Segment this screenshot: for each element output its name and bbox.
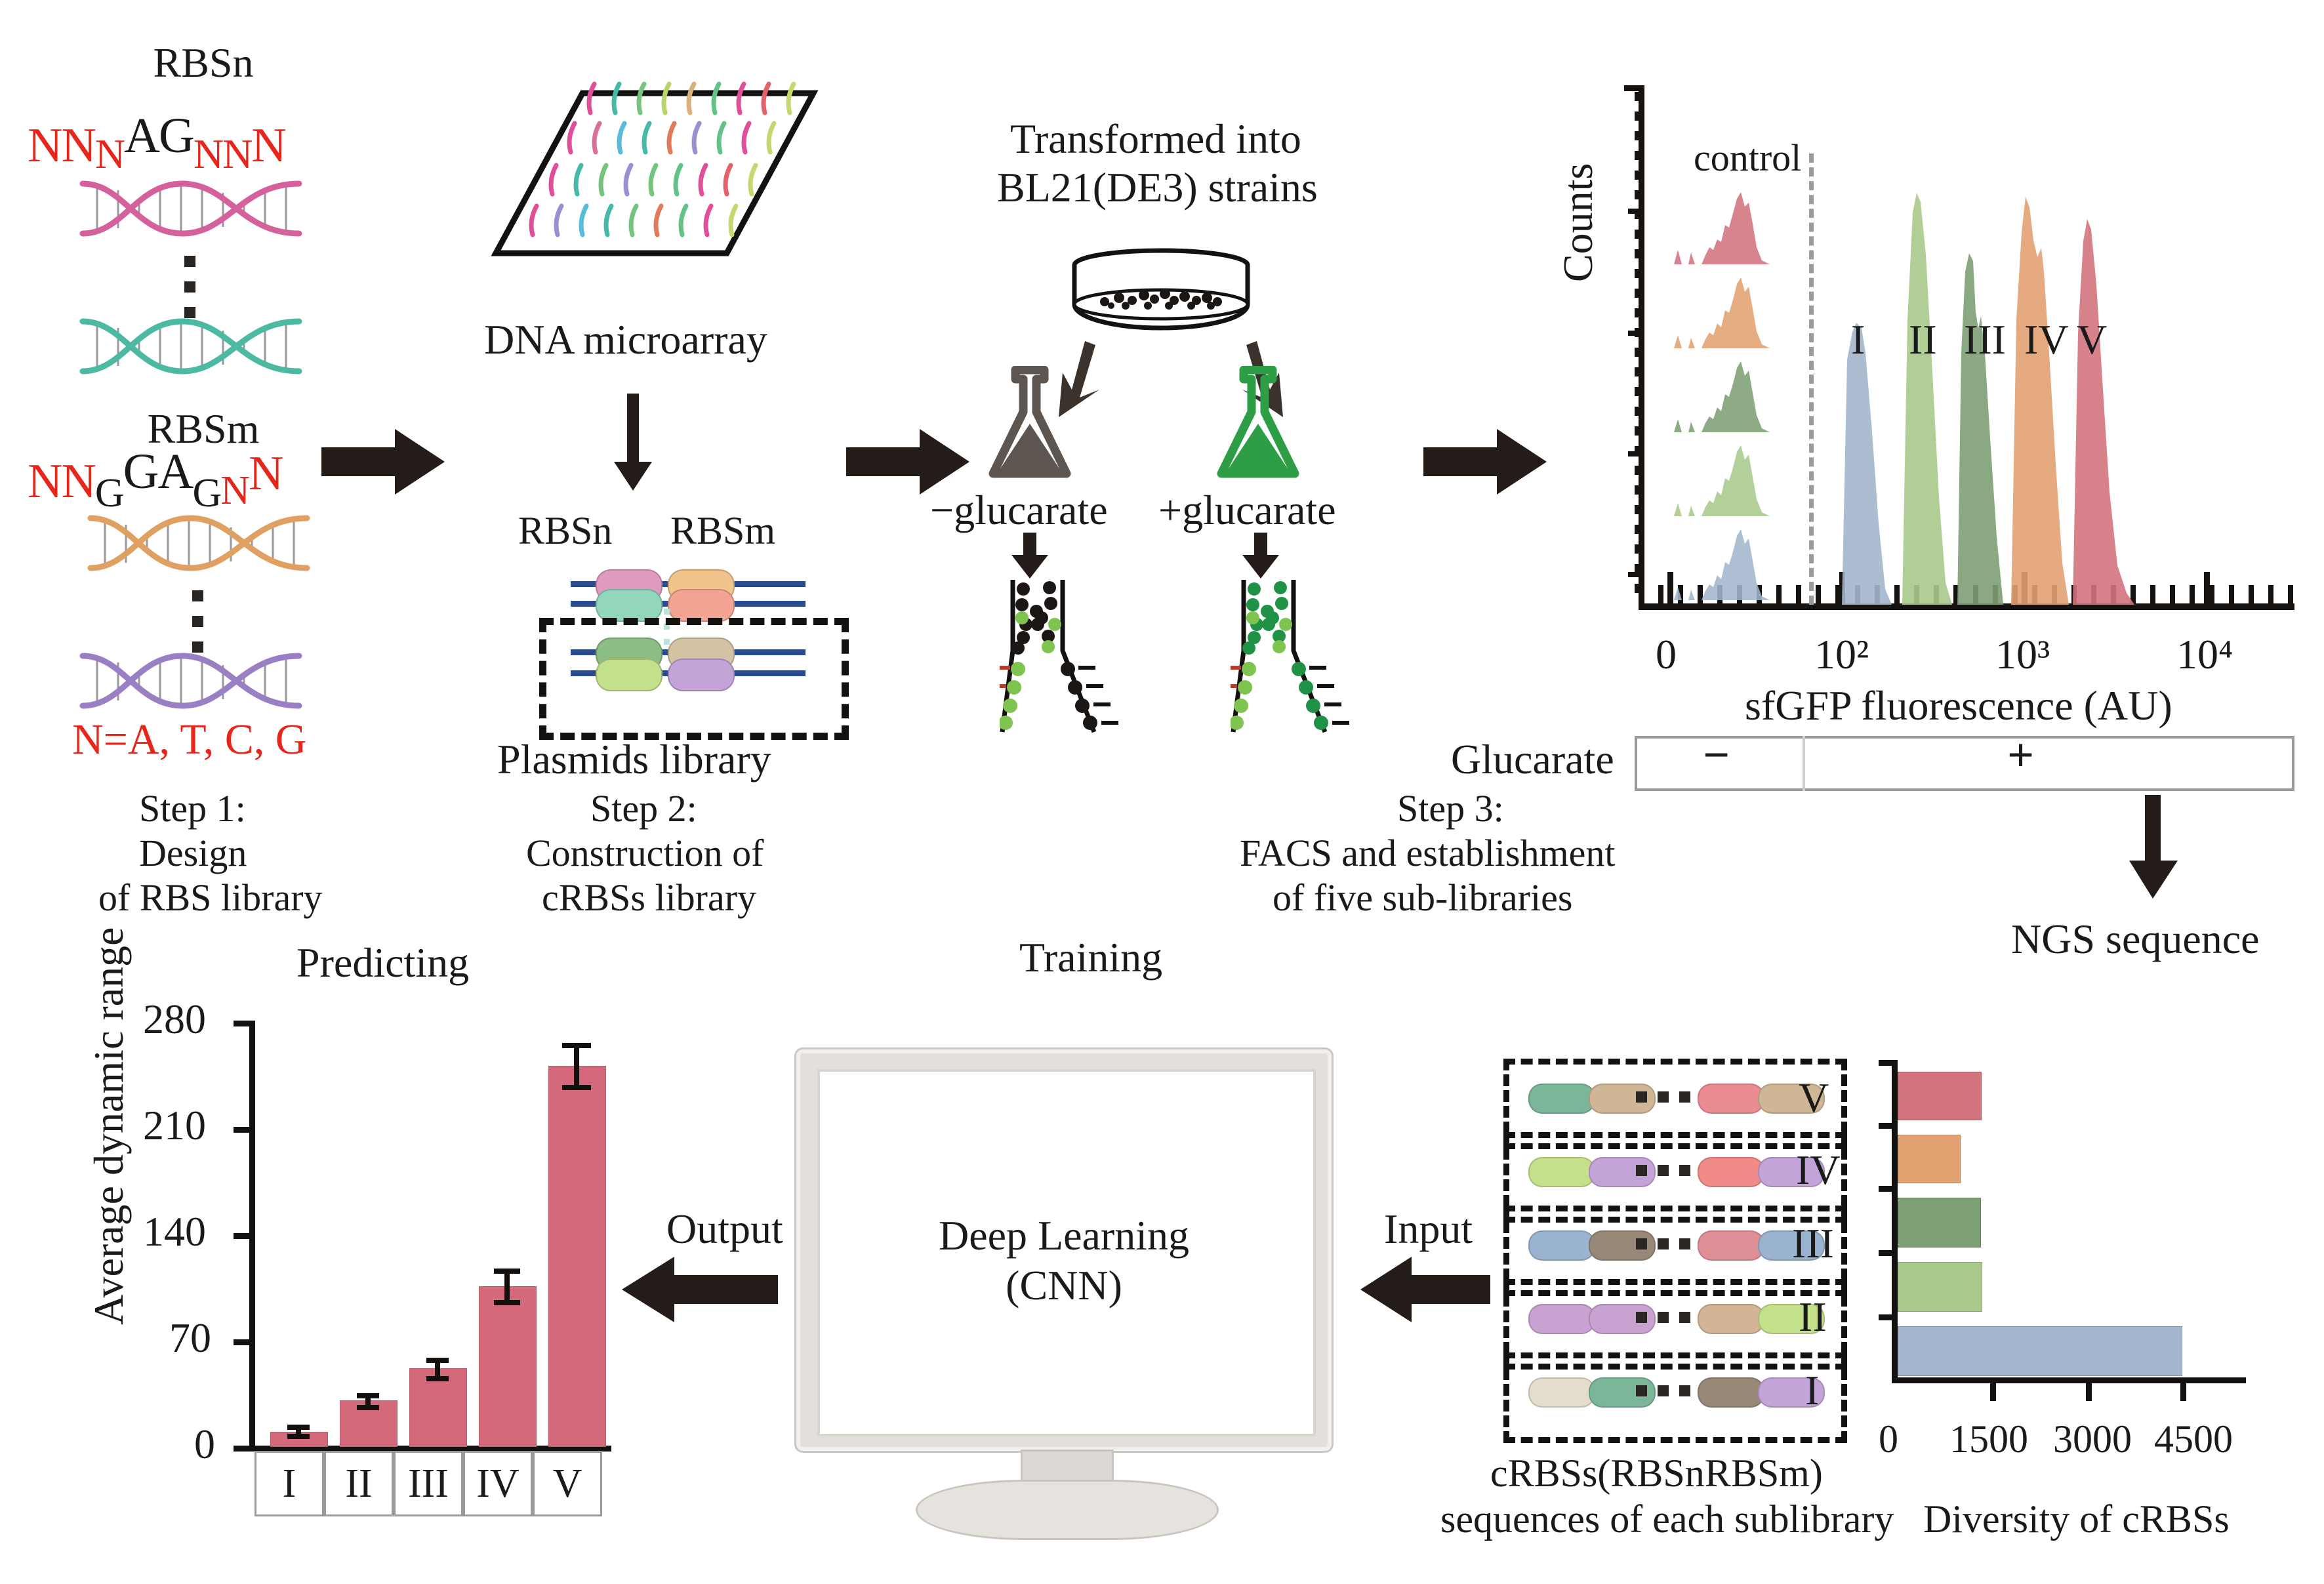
rbsn-title: RBSn [98,39,308,87]
facs-sorter-minus [1000,577,1151,738]
predicting-chart [249,1021,617,1461]
rbsn-sequence: NNNAGNNN [28,117,285,174]
model-name-line1: Deep Learning [817,1212,1311,1260]
flask-minus-label: −glucarate [930,487,1108,535]
facs-xtick-label-0: 0 [1656,631,1677,679]
step3-caption-line3: of five sub-libraries [1273,876,1572,920]
ngs-IV-cap-3 [1698,1157,1764,1187]
facs-peak-label-III: III [1964,316,2006,364]
ngs-caption-line2: sequences of each sublibrary [1440,1497,1894,1541]
flask-plus-glucarate-icon [1212,366,1304,487]
rbsm-seq-part-3: GA [123,444,193,499]
rbsm-seq-part-4: G [192,471,220,516]
nucleotide-legend: N=A, T, C, G [72,715,306,764]
arrow-plus-flask-to-sorter [1240,533,1282,583]
ngs-V-cap-3 [1698,1084,1764,1114]
step2-caption-line3: cRBSs library [542,876,756,920]
arrow-step3-to-facs [1423,425,1548,502]
arrow-step1-to-step2 [321,425,446,502]
facs-ylabel: Counts [1555,163,1602,282]
output-label: Output [666,1206,783,1253]
rbsm-seq-part-6: N [249,447,282,500]
predicting-error-bars [249,1021,617,1461]
predicting-cat-III: III [394,1451,463,1516]
facs-control-label: control [1694,136,1801,180]
model-name-line2: (CNN) [817,1262,1311,1310]
predicting-ytick-70: 70 [169,1314,211,1362]
predicting-title: Predicting [296,939,469,987]
step2-caption-line2: Construction of [526,832,764,875]
rbsm-ellipsis [192,590,203,653]
diversity-y-tick-4 [1879,1314,1897,1320]
ngs-III-ellipsis [1636,1238,1690,1249]
diversity-bar-II [1898,1262,1982,1312]
ngs-box-label-I: I [1805,1367,1819,1415]
rbsn-seq-part-5: N [251,119,285,173]
diversity-x-tick-4500 [2180,1377,2186,1401]
rbsn-seq-part-3: AG [124,108,194,163]
glucarate-strip [1635,736,2294,791]
ngs-III-cap-1 [1528,1230,1595,1261]
diversity-xtick-3000: 3000 [2053,1417,2132,1461]
microarray-label: DNA microarray [484,316,767,364]
glucarate-strip-divider [1803,736,1805,791]
dna-helix-rbsm-top [85,510,312,576]
facs-xtick-label-1e4: 10⁴ [2176,631,2233,679]
diversity-bar-IV [1898,1135,1961,1183]
plasmids-library-box [539,618,849,740]
rbsm-seq-part-1: NN [28,455,95,508]
flask-minus-glucarate-icon [984,366,1076,487]
diversity-bar-I [1898,1326,2182,1376]
diversity-y-tick-3 [1879,1250,1897,1256]
step2-caption-line1: Step 2: [590,787,697,830]
facs-peak-label-IV: IV [2024,316,2069,364]
step1-caption-line2: Design [139,832,247,875]
dna-helix-rbsm-bottom [77,648,304,714]
rbsm-seq-part-2: G [95,471,123,516]
transform-text-line1: Transformed into [1010,115,1301,163]
facs-y-tick-top [1624,85,1644,91]
glucarate-minus-symbol: − [1703,728,1730,782]
diversity-xtick-4500: 4500 [2154,1417,2233,1461]
predicting-cat-I: I [255,1451,324,1516]
ngs-box-label-V: V [1799,1074,1829,1122]
dna-helix-rbsn-bottom [77,314,304,379]
glucarate-row-label: Glucarate [1451,736,1614,784]
facs-peak-label-V: V [2077,316,2107,364]
diversity-x-axis [1892,1377,2246,1383]
diversity-y-axis [1892,1060,1898,1383]
predicting-ytick-140: 140 [143,1208,206,1256]
ngs-V-cap-1 [1528,1084,1595,1114]
arrow-minus-flask-to-sorter [1009,533,1051,583]
predicting-ytick-280: 280 [143,996,206,1044]
predicting-ytick-210: 210 [143,1102,206,1150]
petri-dish-icon [1069,248,1253,336]
ngs-I-cap-3 [1698,1377,1764,1408]
dna-helix-rbsn-top [77,176,304,241]
ngs-I-ellipsis [1636,1385,1690,1396]
plasmid-rbsn-cap-2 [596,589,663,622]
rbsn-seq-part-2: N [95,131,124,177]
diversity-x-tick-1500 [1990,1377,1996,1401]
transform-text-line2: BL21(DE3) strains [997,164,1318,212]
glucarate-plus-symbol: + [2007,728,2034,782]
diversity-xtick-0: 0 [1879,1417,1898,1461]
ngs-II-ellipsis [1636,1312,1690,1323]
rbsn-seq-part-4: NN [194,131,251,177]
diversity-bar-V [1898,1072,1982,1120]
facs-peak-label-II: II [1909,316,1937,364]
facs-xtick-label-1e3: 10³ [1995,631,2050,679]
diversity-chart [1892,1060,2259,1401]
step1-caption-line1: Step 1: [139,787,246,830]
facs-sorter-plus [1231,577,1381,738]
ngs-box-label-II: II [1799,1293,1827,1341]
facs-xlabel: sfGFP fluorescence (AU) [1745,682,2172,730]
plasmid-rbsm-cap-2 [668,589,735,622]
facs-y-minor-ticks [1635,92,1640,603]
ngs-box-label-III: III [1792,1220,1834,1268]
monitor-base [916,1480,1219,1540]
diversity-x-tick-3000 [2086,1377,2092,1401]
facs-histogram: control I II III IV V [1639,85,2294,630]
arrow-ngs-to-model [1359,1253,1490,1330]
training-label: Training [1019,934,1162,982]
ngs-I-cap-1 [1528,1377,1595,1408]
ngs-caption-line1: cRBSs(RBSnRBSm) [1490,1451,1823,1495]
predicting-ytick-0: 0 [194,1421,215,1469]
plasmid-library-label: Plasmids library [497,736,771,784]
diversity-y-tick-0 [1879,1060,1897,1066]
plasmid-col-label-rbsn: RBSn [518,508,612,553]
plasmid-col-label-rbsm: RBSm [670,508,775,553]
facs-xtick-label-1e2: 10² [1814,631,1869,679]
diversity-y-tick-2 [1879,1186,1897,1192]
ngs-V-ellipsis [1636,1091,1690,1103]
rbsm-seq-part-5: N [220,468,249,513]
arrow-facs-to-ngs [2125,795,2182,903]
diversity-bar-III [1898,1198,1981,1248]
arrow-model-to-prediction [621,1253,778,1330]
ngs-II-cap-3 [1698,1304,1764,1334]
ngs-II-cap-1 [1528,1304,1595,1334]
ngs-IV-cap-1 [1528,1157,1595,1187]
diversity-y-tick-1 [1879,1123,1897,1129]
ngs-title: NGS sequence [2011,916,2260,964]
rbsn-ellipsis [184,256,195,318]
dna-microarray-icon [491,79,819,272]
step1-caption-line3: of RBS library [98,876,323,920]
flask-plus-label: +glucarate [1158,487,1336,535]
rbsn-seq-part-1: NN [28,119,95,173]
diversity-xtick-1500: 1500 [1949,1417,2028,1461]
arrow-microarray-to-plasmids [610,394,656,495]
step3-caption-line1: Step 3: [1397,787,1504,830]
predicting-cat-II: II [324,1451,394,1516]
predicting-cat-V: V [533,1451,602,1516]
rbsm-sequence: NNGGAGNN [28,453,282,510]
input-label: Input [1384,1206,1473,1253]
predicting-cat-IV: IV [463,1451,533,1516]
predicting-ylabel: Average dynamic range [85,927,133,1326]
ngs-IV-ellipsis [1636,1165,1690,1176]
facs-peak-label-I: I [1851,316,1865,364]
ngs-box-label-IV: IV [1796,1147,1841,1194]
step3-caption-line2: FACS and establishment [1240,832,1615,875]
diversity-xlabel: Diversity of cRBSs [1923,1497,2230,1541]
ngs-III-cap-3 [1698,1230,1764,1261]
